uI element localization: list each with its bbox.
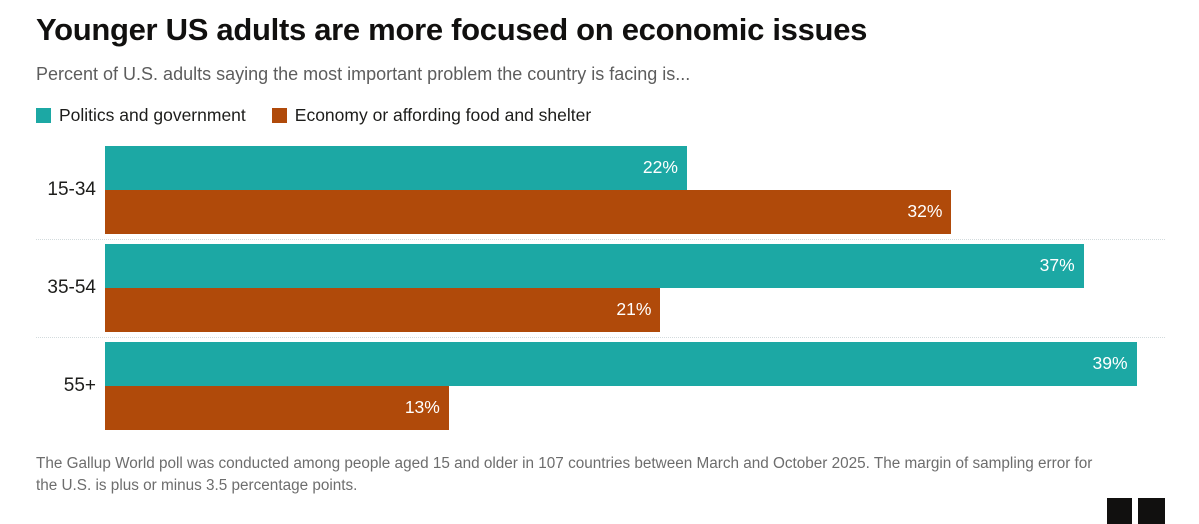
- bar-economy-15-34[interactable]: 32%: [105, 190, 951, 234]
- category-label-35-54: 35-54: [36, 277, 105, 299]
- bar-value-politics-35-54: 37%: [1040, 257, 1075, 275]
- category-label-55-plus: 55+: [36, 375, 105, 397]
- bar-pair-15-34: 22% 32%: [105, 146, 1163, 234]
- bar-row-politics: 39%: [105, 342, 1163, 386]
- legend-item-politics[interactable]: Politics and government: [36, 105, 246, 126]
- bar-politics-15-34[interactable]: 22%: [105, 146, 687, 190]
- legend-item-economy[interactable]: Economy or affording food and shelter: [272, 105, 591, 126]
- bar-row-politics: 22%: [105, 146, 1163, 190]
- plot-area: 15-34 22% 32% 35-54: [36, 141, 1163, 441]
- bar-politics-55-plus[interactable]: 39%: [105, 342, 1137, 386]
- bar-value-economy-15-34: 32%: [907, 203, 942, 221]
- category-label-15-34: 15-34: [36, 179, 105, 201]
- bar-pair-55-plus: 39% 13%: [105, 342, 1163, 430]
- bar-row-economy: 13%: [105, 386, 1163, 430]
- bar-economy-35-54[interactable]: 21%: [105, 288, 660, 332]
- chart-footnote: The Gallup World poll was conducted amon…: [36, 453, 1107, 496]
- bar-group-55-plus: 55+ 39% 13%: [36, 337, 1163, 435]
- bar-row-economy: 21%: [105, 288, 1163, 332]
- page-title: Younger US adults are more focused on ec…: [36, 0, 1163, 47]
- bar-pair-35-54: 37% 21%: [105, 244, 1163, 332]
- group-separator: [36, 239, 1165, 241]
- bar-value-politics-55-plus: 39%: [1093, 355, 1128, 373]
- bar-group-35-54: 35-54 37% 21%: [36, 239, 1163, 337]
- ap-logo: [1107, 498, 1165, 524]
- legend-swatch-economy-icon: [272, 108, 287, 123]
- legend-label-economy: Economy or affording food and shelter: [295, 105, 591, 126]
- chart-subtitle: Percent of U.S. adults saying the most i…: [36, 47, 1163, 86]
- bar-row-economy: 32%: [105, 190, 1163, 234]
- chart-legend: Politics and government Economy or affor…: [36, 86, 1163, 126]
- bar-group-15-34: 15-34 22% 32%: [36, 141, 1163, 239]
- legend-swatch-politics-icon: [36, 108, 51, 123]
- bar-value-economy-35-54: 21%: [616, 301, 651, 319]
- bar-politics-35-54[interactable]: 37%: [105, 244, 1084, 288]
- bar-value-economy-55-plus: 13%: [405, 399, 440, 417]
- bar-row-politics: 37%: [105, 244, 1163, 288]
- chart-container: Younger US adults are more focused on ec…: [0, 0, 1199, 506]
- legend-label-politics: Politics and government: [59, 105, 246, 126]
- group-separator: [36, 337, 1165, 339]
- bar-value-politics-15-34: 22%: [643, 159, 678, 177]
- bar-economy-55-plus[interactable]: 13%: [105, 386, 449, 430]
